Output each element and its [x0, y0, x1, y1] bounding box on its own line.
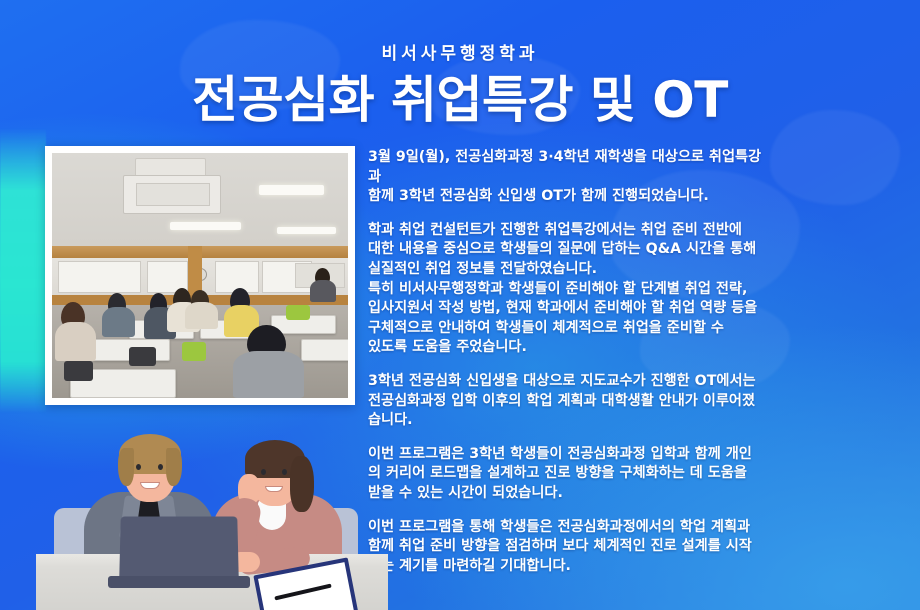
body-text-run: 함께	[368, 188, 399, 204]
body-text-run: 시간을 통해	[681, 241, 756, 257]
photo-student	[55, 322, 96, 361]
photo-chair	[129, 347, 156, 367]
body-text-emphasis: Q&A	[646, 241, 681, 257]
illustration-person-left-eye	[136, 464, 141, 470]
classroom-photo-frame	[45, 146, 355, 405]
photo-ceiling-light	[170, 222, 241, 231]
body-text-run: 습니다.	[368, 412, 413, 428]
body-text-run: 학과 취업 컨설턴트가 진행한 취업특강에서는 취업 준비 전반에	[368, 222, 742, 238]
body-paragraph: 3학년 전공심화 신입생을 대상으로 지도교수가 진행한 OT에서는전공심화과정…	[368, 372, 908, 431]
illustration-person-left-hair	[166, 448, 182, 486]
photo-student	[233, 351, 304, 398]
body-text-emphasis: 3월 9일(월)	[368, 149, 445, 165]
photo-whiteboard	[58, 261, 141, 293]
classroom-photo	[52, 153, 348, 398]
illustration-laptop-screen	[119, 517, 238, 579]
body-text-run: 의 커리어 로드맵을 설계하고 진로 방향을 구체화하는 데 도움을	[368, 465, 747, 481]
body-paragraph: 이번 프로그램은 3학년 학생들이 전공심화과정 입학과 함께 개인의 커리어 …	[368, 445, 908, 504]
photo-student	[185, 302, 218, 329]
body-text-emphasis: 3	[368, 373, 378, 389]
photo-instructor	[310, 280, 337, 302]
body-text-emphasis: 3	[399, 188, 409, 204]
body-text-run: 구체적으로 안내하여 학생들이 체계적으로 취업을 준비할 수	[368, 320, 724, 336]
body-text-emphasis: 3·4	[538, 149, 563, 165]
illustration-person-right-ponytail	[290, 456, 314, 512]
body-text-run: , 전공심화과정	[445, 149, 539, 165]
poster-canvas: 비서사무행정학과 전공심화 취업특강 및 OT	[0, 0, 920, 610]
illustration-person-right-eye	[282, 469, 287, 475]
body-text-run: 이번 프로그램은	[368, 446, 469, 462]
department-subtitle: 비서사무행정학과	[0, 44, 920, 64]
body-text-run: 함께 취업 준비 방향을 점검하며 보다 체계적인 진로 설계를 시작	[368, 538, 752, 554]
body-text-run: 전공심화과정 입학 이후의 학업 계획과 대학생활 안내가 이루어졌	[368, 393, 755, 409]
poster-body-text: 3월 9일(월), 전공심화과정 3·4학년 재학생을 대상으로 취업특강과함께…	[368, 148, 908, 576]
illustration-laptop-base	[108, 576, 250, 588]
body-text-emphasis: OT	[541, 188, 563, 204]
body-text-run: 학년 전공심화 신입생	[409, 188, 541, 204]
illustration-person-left-eye	[158, 464, 163, 470]
photo-chair	[64, 361, 94, 381]
poster-header: 비서사무행정학과 전공심화 취업특강 및 OT	[0, 44, 920, 128]
photo-desk	[301, 339, 348, 361]
photo-chair	[182, 342, 206, 362]
body-text-run: 입사지원서 작성 방법, 현재 학과에서 준비해야 할 취업 역량 등을	[368, 300, 757, 316]
illustration-person-left-hair	[118, 448, 134, 486]
body-text-run: 실질적인 취업 정보를 전달하였습니다.	[368, 261, 597, 277]
body-text-emphasis: 3	[469, 446, 479, 462]
body-text-run: 가 함께 진행되었습니다.	[563, 188, 709, 204]
body-text-emphasis: OT	[695, 373, 717, 389]
body-paragraph: 이번 프로그램을 통해 학생들은 전공심화과정에서의 학업 계획과함께 취업 준…	[368, 518, 908, 577]
body-text-run: 학년 전공심화 신입생을 대상으로 지도교수가 진행한	[378, 373, 695, 389]
body-text-run: 과	[368, 169, 381, 185]
consultation-illustration	[62, 424, 362, 610]
photo-student	[102, 307, 135, 336]
page-title: 전공심화 취업특강 및 OT	[0, 72, 920, 128]
photo-ceiling-light	[277, 227, 336, 234]
photo-air-conditioner	[123, 175, 221, 214]
body-text-run: 있도록 도움을 주었습니다.	[368, 339, 527, 355]
body-text-run: 하는 계기를 마련하길 기대합니다.	[368, 558, 571, 574]
body-text-run: 학년 학생들이 전공심화과정 입학과 함께 개인	[479, 446, 752, 462]
photo-ceiling-light	[259, 185, 324, 195]
body-text-run: 학년 재학생을 대상으로 취업특강	[564, 149, 762, 165]
body-paragraph: 3월 9일(월), 전공심화과정 3·4학년 재학생을 대상으로 취업특강과함께…	[368, 148, 908, 207]
illustration-person-right-eye	[261, 469, 266, 475]
cyan-accent-band	[0, 128, 46, 413]
photo-chair	[286, 305, 310, 320]
body-text-run: 받을 수 있는 시간이 되었습니다.	[368, 485, 563, 501]
body-text-run: 특히 비서사무행정학과 학생들이 준비해야 할 단계별 취업 전략,	[368, 281, 747, 297]
body-paragraph: 학과 취업 컨설턴트가 진행한 취업특강에서는 취업 준비 전반에대한 내용을 …	[368, 221, 908, 358]
body-text-run: 대한 내용을 중심으로 학생들의 질문에 답하는	[368, 241, 646, 257]
body-text-run: 이번 프로그램을 통해 학생들은 전공심화과정에서의 학업 계획과	[368, 519, 750, 535]
body-text-run: 에서는	[716, 373, 755, 389]
